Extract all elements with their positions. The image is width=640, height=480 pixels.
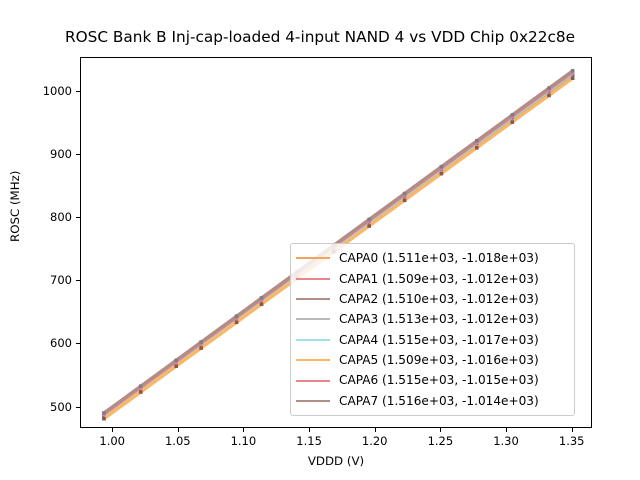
data-point-marker bbox=[199, 346, 203, 350]
x-tick-label: 1.20 bbox=[362, 434, 388, 448]
x-tick-mark bbox=[178, 428, 179, 432]
data-point-marker bbox=[440, 165, 444, 169]
data-point-marker bbox=[102, 417, 106, 421]
legend-color-swatch bbox=[296, 380, 330, 382]
y-tick-label: 500 bbox=[50, 400, 72, 414]
data-point-marker bbox=[260, 302, 264, 306]
data-point-marker bbox=[199, 340, 203, 344]
y-tick-label: 700 bbox=[50, 273, 72, 287]
data-point-marker bbox=[547, 86, 551, 90]
x-tick-mark bbox=[440, 428, 441, 432]
data-point-marker bbox=[139, 384, 143, 388]
x-axis-label: VDDD (V) bbox=[80, 454, 592, 468]
data-point-marker bbox=[403, 198, 407, 202]
data-point-marker bbox=[367, 224, 371, 228]
x-tick-mark bbox=[112, 428, 113, 432]
legend-item-capa7[interactable]: CAPA7 (1.516e+03, -1.014e+03) bbox=[296, 391, 568, 411]
data-point-marker bbox=[547, 94, 551, 98]
figure-canvas: ROSC Bank B Inj-cap-loaded 4-input NAND … bbox=[0, 0, 640, 480]
data-point-marker bbox=[260, 296, 264, 300]
y-tick-mark bbox=[76, 91, 80, 92]
y-tick-mark bbox=[76, 407, 80, 408]
legend-item-capa0[interactable]: CAPA0 (1.511e+03, -1.018e+03) bbox=[296, 248, 568, 268]
y-tick-label: 1000 bbox=[43, 84, 72, 98]
legend-item-label: CAPA3 (1.513e+03, -1.012e+03) bbox=[339, 313, 539, 325]
legend-item-capa5[interactable]: CAPA5 (1.509e+03, -1.016e+03) bbox=[296, 350, 568, 370]
legend-item-label: CAPA6 (1.515e+03, -1.015e+03) bbox=[339, 374, 539, 386]
y-tick-mark bbox=[76, 343, 80, 344]
legend-item-label: CAPA5 (1.509e+03, -1.016e+03) bbox=[339, 354, 539, 366]
x-tick-mark bbox=[506, 428, 507, 432]
data-point-marker bbox=[510, 113, 514, 117]
x-tick-label: 1.30 bbox=[493, 434, 519, 448]
legend-color-swatch bbox=[296, 400, 330, 402]
legend-item-label: CAPA2 (1.510e+03, -1.012e+03) bbox=[339, 293, 539, 305]
data-point-marker bbox=[440, 172, 444, 176]
legend-color-swatch bbox=[296, 298, 330, 300]
data-point-marker bbox=[174, 358, 178, 362]
legend-color-swatch bbox=[296, 339, 330, 341]
chart-legend: CAPA0 (1.511e+03, -1.018e+03)CAPA1 (1.50… bbox=[290, 243, 575, 416]
data-point-marker bbox=[235, 314, 239, 318]
data-point-marker bbox=[235, 321, 239, 325]
x-tick-label: 1.10 bbox=[231, 434, 257, 448]
x-tick-mark bbox=[375, 428, 376, 432]
data-point-marker bbox=[475, 139, 479, 143]
y-tick-mark bbox=[76, 154, 80, 155]
y-tick-label: 800 bbox=[50, 210, 72, 224]
legend-color-swatch bbox=[296, 257, 330, 259]
y-tick-mark bbox=[76, 280, 80, 281]
x-tick-label: 1.35 bbox=[559, 434, 585, 448]
x-tick-label: 1.25 bbox=[428, 434, 454, 448]
legend-item-label: CAPA7 (1.516e+03, -1.014e+03) bbox=[339, 395, 539, 407]
y-axis-label: ROSC (MHz) bbox=[8, 171, 22, 242]
legend-color-swatch bbox=[296, 318, 330, 320]
x-tick-label: 1.15 bbox=[296, 434, 322, 448]
chart-title: ROSC Bank B Inj-cap-loaded 4-input NAND … bbox=[0, 28, 640, 46]
data-point-marker bbox=[102, 411, 106, 415]
data-point-marker bbox=[475, 146, 479, 150]
legend-color-swatch bbox=[296, 278, 330, 280]
x-tick-label: 1.00 bbox=[99, 434, 125, 448]
legend-item-label: CAPA4 (1.515e+03, -1.017e+03) bbox=[339, 334, 539, 346]
y-tick-label: 900 bbox=[50, 147, 72, 161]
data-point-marker bbox=[174, 364, 178, 368]
legend-item-label: CAPA0 (1.511e+03, -1.018e+03) bbox=[339, 252, 539, 264]
data-point-marker bbox=[367, 218, 371, 222]
legend-item-capa3[interactable]: CAPA3 (1.513e+03, -1.012e+03) bbox=[296, 309, 568, 329]
legend-color-swatch bbox=[296, 359, 330, 361]
x-tick-label: 1.05 bbox=[165, 434, 191, 448]
x-tick-mark bbox=[309, 428, 310, 432]
data-point-marker bbox=[571, 76, 575, 80]
legend-item-capa4[interactable]: CAPA4 (1.515e+03, -1.017e+03) bbox=[296, 330, 568, 350]
data-point-marker bbox=[139, 390, 143, 394]
y-tick-mark bbox=[76, 217, 80, 218]
x-tick-mark bbox=[243, 428, 244, 432]
x-tick-mark bbox=[572, 428, 573, 432]
legend-item-label: CAPA1 (1.509e+03, -1.012e+03) bbox=[339, 273, 539, 285]
data-point-marker bbox=[403, 192, 407, 196]
data-point-marker bbox=[510, 120, 514, 124]
legend-item-capa6[interactable]: CAPA6 (1.515e+03, -1.015e+03) bbox=[296, 370, 568, 390]
legend-item-capa2[interactable]: CAPA2 (1.510e+03, -1.012e+03) bbox=[296, 289, 568, 309]
y-tick-label: 600 bbox=[50, 336, 72, 350]
legend-item-capa1[interactable]: CAPA1 (1.509e+03, -1.012e+03) bbox=[296, 268, 568, 288]
data-point-marker bbox=[571, 69, 575, 73]
